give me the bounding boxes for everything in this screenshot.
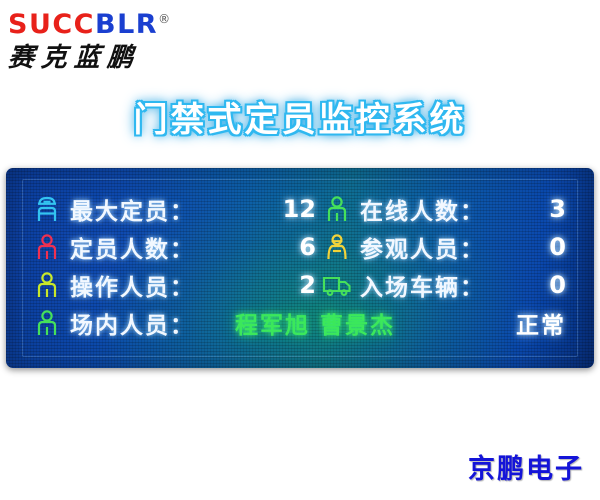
led-display-panel: 最大定员： 12 在线人数： 3 (6, 168, 594, 368)
person-icon (32, 270, 62, 300)
stat-label: 参观人员： (360, 230, 485, 264)
stat-value: 3 (485, 195, 568, 223)
onsite-label: 场内人员： (70, 306, 195, 340)
stat-label: 定员人数： (70, 230, 195, 264)
led-row: 最大定员： 12 在线人数： 3 (32, 190, 568, 228)
onsite-name-list: 程军旭 曹景杰 (195, 306, 516, 340)
brand-logo: SUCCBLR® 赛克蓝鹏 (8, 4, 208, 72)
stat-value: 6 (195, 233, 322, 261)
stat-value: 0 (485, 233, 568, 261)
stat-max-capacity: 最大定员： 12 (32, 192, 322, 226)
brand-chinese-name: 赛克蓝鹏 (7, 42, 209, 74)
person-icon (322, 194, 352, 224)
led-content-grid: 最大定员： 12 在线人数： 3 (6, 168, 594, 368)
status-badge: 正常 (516, 306, 568, 340)
registered-trademark-icon: ® (158, 12, 170, 26)
page-title: 门禁式定员监控系统 (0, 92, 600, 141)
brand-wordmark: SUCCBLR® (8, 4, 208, 40)
stat-online-count: 在线人数： 3 (322, 192, 568, 226)
footer-company-name: 京鹏电子 (468, 447, 584, 486)
stat-vehicle-count: 入场车辆： 0 (322, 268, 568, 302)
stat-visitor-count: 参观人员： 0 (322, 230, 568, 264)
led-row: 定员人数： 6 参观人员： 0 (32, 228, 568, 266)
stat-label: 入场车辆： (360, 268, 485, 302)
stat-staffed-count: 定员人数： 6 (32, 230, 322, 264)
stat-value: 0 (485, 271, 568, 299)
stat-onsite-personnel: 场内人员： 程军旭 曹景杰 正常 (32, 306, 568, 340)
person-hardhat-icon (32, 194, 62, 224)
stat-label: 在线人数： (360, 192, 485, 226)
stat-value: 12 (195, 195, 322, 223)
stat-label: 操作人员： (70, 268, 195, 302)
person-visitor-icon (322, 232, 352, 262)
wordmark-blr: BLR (95, 9, 158, 40)
wordmark-succ: SUCC (8, 9, 95, 40)
stat-operator-count: 操作人员： 2 (32, 268, 322, 302)
stat-value: 2 (195, 271, 322, 299)
led-row-onsite: 场内人员： 程军旭 曹景杰 正常 (32, 304, 568, 342)
person-icon (32, 308, 62, 338)
stat-label: 最大定员： (70, 192, 195, 226)
led-row: 操作人员： 2 入场车辆： 0 (32, 266, 568, 304)
truck-icon (322, 270, 352, 300)
person-icon (32, 232, 62, 262)
